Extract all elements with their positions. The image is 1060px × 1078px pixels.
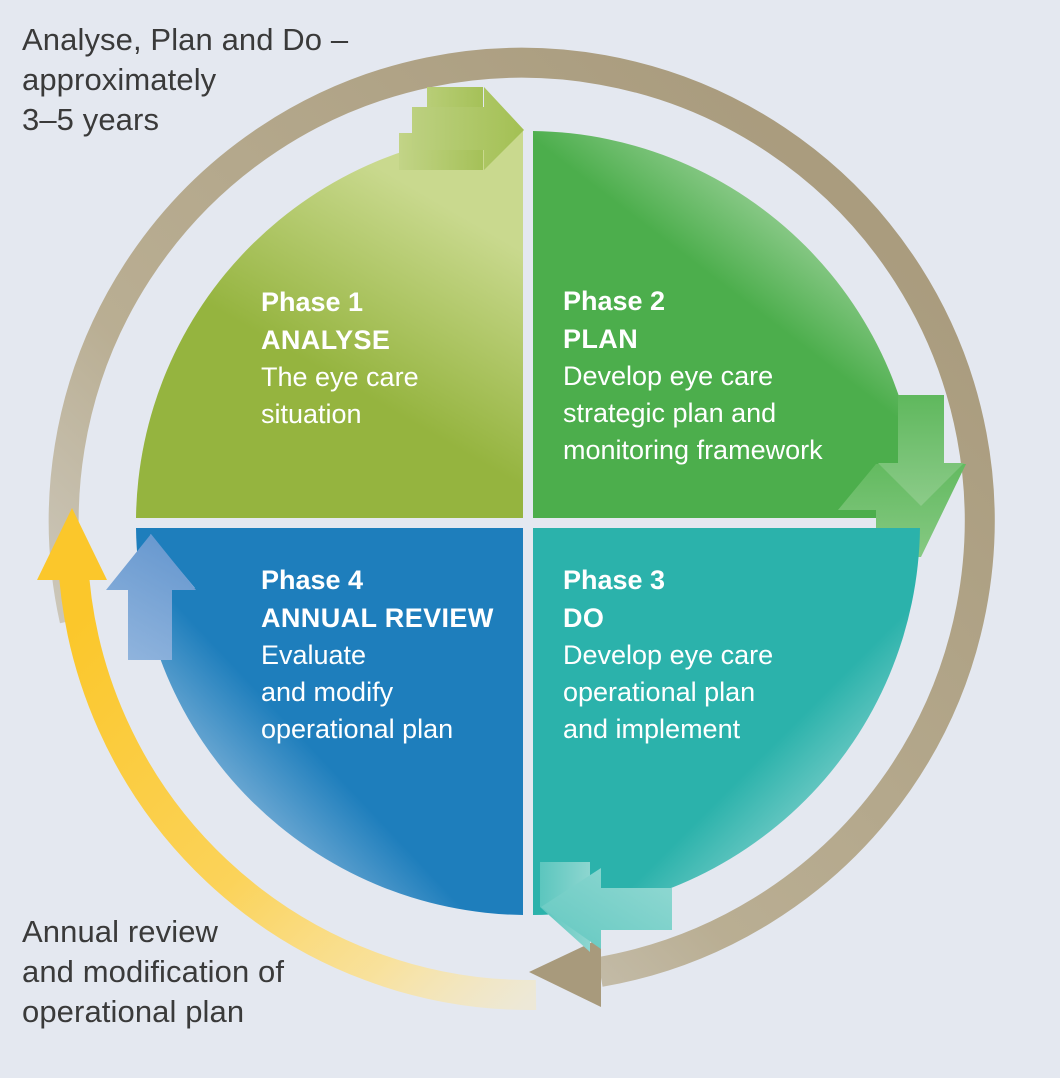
quadrant-4-desc-line-2: and modify bbox=[261, 677, 394, 707]
quadrant-4-desc-line-1: Evaluate bbox=[261, 640, 366, 670]
quadrant-2-desc-line-3: monitoring framework bbox=[563, 435, 823, 465]
quadrant-2-desc-line-1: Develop eye care bbox=[563, 361, 773, 391]
quadrant-3-desc-line-3: and implement bbox=[563, 714, 741, 744]
quadrant-phase-2[interactable]: Phase 2 PLAN Develop eye care strategic … bbox=[533, 131, 966, 557]
yellow-arc-arrowhead bbox=[37, 508, 107, 580]
quadrant-3-desc-line-2: operational plan bbox=[563, 677, 755, 707]
quadrant-3-phase: Phase 3 bbox=[563, 565, 665, 595]
quadrant-2-phase: Phase 2 bbox=[563, 286, 665, 316]
quadrant-3-desc-line-1: Develop eye care bbox=[563, 640, 773, 670]
quadrant-1-title: ANALYSE bbox=[261, 325, 390, 355]
quadrant-3-arrowhead bbox=[540, 862, 590, 952]
caption-annual-review: Annual review and modification of operat… bbox=[22, 912, 442, 1032]
quadrant-phase-3[interactable]: Phase 3 DO Develop eye care operational … bbox=[533, 528, 920, 952]
quadrant-2-desc-line-2: strategic plan and bbox=[563, 398, 776, 428]
quadrant-1-desc-line-1: The eye care bbox=[261, 362, 419, 392]
quadrant-phase-4[interactable]: Phase 4 ANNUAL REVIEW Evaluate and modif… bbox=[105, 528, 523, 915]
figure-canvas: Phase 1 ANALYSE The eye care situation P… bbox=[0, 0, 1060, 1078]
quadrant-3-title: DO bbox=[563, 603, 604, 633]
quadrant-phase-1[interactable]: Phase 1 ANALYSE The eye care situation bbox=[136, 86, 523, 518]
quadrant-4-title: ANNUAL REVIEW bbox=[261, 603, 494, 633]
quadrant-1-phase: Phase 1 bbox=[261, 287, 363, 317]
quadrant-4-desc-line-3: operational plan bbox=[261, 714, 453, 744]
quadrant-1-desc-line-2: situation bbox=[261, 399, 362, 429]
quadrant-2-title: PLAN bbox=[563, 324, 638, 354]
caption-analyse-plan-do: Analyse, Plan and Do – approximately 3–5… bbox=[22, 20, 442, 140]
quadrant-4-phase: Phase 4 bbox=[261, 565, 363, 595]
tan-arc-arrowhead bbox=[529, 938, 601, 1007]
